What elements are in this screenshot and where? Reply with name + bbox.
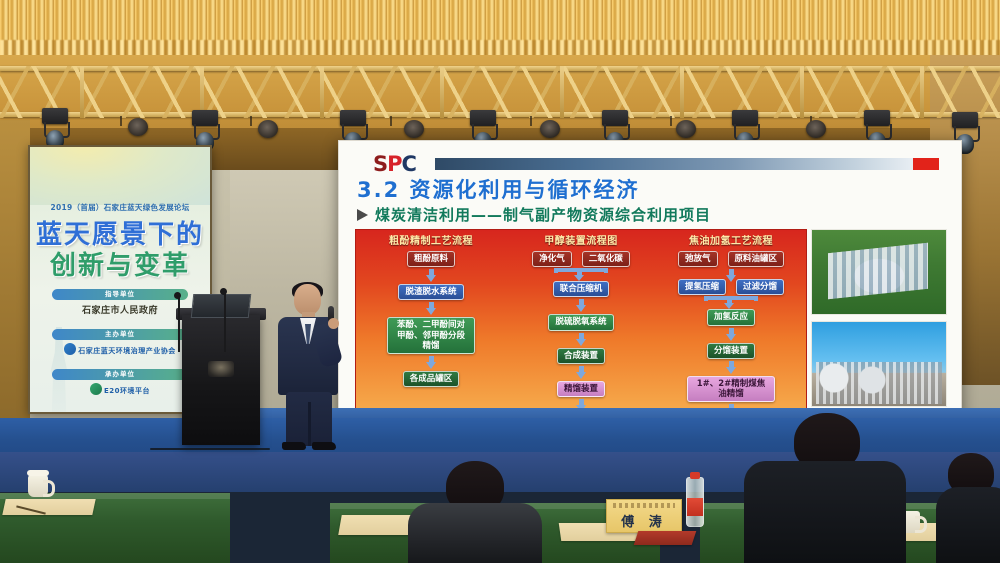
audience-person-right xyxy=(740,413,910,563)
banner-forum-line: 2019（首届）石家庄蓝天绿色发展论坛 xyxy=(30,202,210,213)
red-folder xyxy=(634,531,697,545)
floor-cable xyxy=(150,448,270,450)
merge-arrow-icon xyxy=(546,268,616,280)
podium-laptop xyxy=(191,294,252,318)
aerial-plant-rendering xyxy=(811,229,947,315)
audience-shoulders xyxy=(744,461,906,563)
audience-shoulders xyxy=(936,487,1000,563)
par-can-light xyxy=(128,118,148,136)
triangle-bullet-icon xyxy=(357,209,368,221)
tea-mug xyxy=(28,475,48,497)
logo-letter-c: C xyxy=(402,152,416,176)
association-logo-icon xyxy=(64,343,76,355)
flow-node: 精馏装置 xyxy=(557,381,605,397)
flow-node: 各成品罐区 xyxy=(403,371,460,387)
flow-pair-row: 净化气 二氧化碳 xyxy=(532,251,630,267)
org-name-text: E20环境平台 xyxy=(104,387,150,395)
logo-red-accent xyxy=(913,158,939,170)
podium-crest-logo xyxy=(208,361,234,377)
org-name: 石家庄蓝天环境治理产业协会 xyxy=(52,343,188,356)
flow-arrow-icon xyxy=(726,361,737,374)
par-can-light xyxy=(676,120,696,138)
lighting-truss xyxy=(0,60,1000,138)
wall-left-column xyxy=(0,120,30,420)
par-can-light xyxy=(540,120,560,138)
logo-letter-s: S xyxy=(373,152,387,176)
audience-person-left xyxy=(400,455,550,563)
name-card-header-line xyxy=(613,503,675,508)
column-title: 甲醇装置流程图 xyxy=(506,232,656,247)
flow-node: 脱渣脱水系统 xyxy=(398,284,463,300)
column-title: 粗酚精制工艺流程 xyxy=(356,232,506,247)
flow-arrow-icon xyxy=(426,302,437,315)
audience-person-far-right xyxy=(940,443,1000,563)
flow-node: 合成装置 xyxy=(557,348,605,364)
flow-pair-row: 弛放气 原料油罐区 xyxy=(678,251,784,267)
flow-node: 联合压缩机 xyxy=(553,281,610,297)
org-role-label: 承办单位 xyxy=(52,369,188,380)
flow-node: 苯酚、二甲酚间对甲酚、邻甲酚分段精馏 xyxy=(387,317,475,354)
microphone-stand xyxy=(224,292,226,352)
speaker-leg-split xyxy=(308,402,311,446)
org-role-label: 指导单位 xyxy=(52,289,188,300)
slide-logo-row: SPC xyxy=(373,153,939,175)
banner-org-host: 主办单位 石家庄蓝天环境治理产业协会 xyxy=(52,329,188,356)
audience-shoulders xyxy=(408,503,542,563)
merge-arrow-icon xyxy=(696,296,766,308)
flow-arrow-icon xyxy=(426,269,437,282)
flow-arrow-icon xyxy=(576,299,587,312)
name-card-name: 傅 涛 xyxy=(607,511,681,530)
banner-sky-graphic xyxy=(30,147,210,205)
slide-subtitle: 煤炭清洁利用——制气副产物资源综合利用项目 xyxy=(375,204,711,225)
speaker-person xyxy=(272,284,346,454)
org-name-text: 石家庄蓝天环境治理产业协会 xyxy=(78,347,176,355)
projection-screen: SPC 3.2 资源化利用与循环经济 煤炭清洁利用——制气副产物资源综合利用项目… xyxy=(338,140,962,442)
water-bottle xyxy=(686,477,704,527)
flow-arrow-icon xyxy=(726,269,737,277)
name-card: 傅 涛 xyxy=(606,499,682,533)
flow-node: 1#、2#精制煤焦油精馏 xyxy=(687,376,775,402)
diagram-column-tar-hydrogenation: 焦油加氢工艺流程 弛放气 原料油罐区 提氢压缩 过滤分馏 xyxy=(656,230,806,408)
flow-arrow-icon xyxy=(726,328,737,341)
slide-title: 3.2 资源化利用与循环经济 xyxy=(357,174,957,204)
flow-arrow-icon xyxy=(576,366,587,379)
slide-subtitle-row: 煤炭清洁利用——制气副产物资源综合利用项目 xyxy=(357,204,957,225)
flow-arrow-icon xyxy=(576,333,587,346)
flow-node: 二氧化碳 xyxy=(582,251,630,267)
banner-org-organizer: 承办单位 E20环境平台 xyxy=(52,369,188,396)
logo-letter-p: P xyxy=(387,152,401,176)
diagram-column-methanol: 甲醇装置流程图 净化气 二氧化碳 联合压缩机 脱硫脱氧系统 合成 xyxy=(506,230,656,408)
speaker-shoe xyxy=(312,442,336,450)
logo-gradient-bar xyxy=(435,158,913,170)
spc-logo: SPC xyxy=(373,153,416,175)
org-name: 石家庄市人民政府 xyxy=(52,303,188,316)
diagram-column-crude-phenol: 粗酚精制工艺流程 粗酚原料 脱渣脱水系统 苯酚、二甲酚间对甲酚、邻甲酚分段精馏 … xyxy=(356,230,506,408)
flow-node: 分馏装置 xyxy=(707,343,755,359)
microphone-head-icon xyxy=(174,292,181,299)
ceiling-texture xyxy=(0,0,1000,62)
podium xyxy=(182,315,260,445)
microphone-stand xyxy=(178,296,180,352)
e20-logo-icon xyxy=(90,383,102,395)
slide-photo-group xyxy=(811,229,945,407)
org-name: E20环境平台 xyxy=(52,383,188,396)
microphone-head-icon xyxy=(220,288,227,295)
flow-node: 脱硫脱氧系统 xyxy=(548,314,613,330)
flow-node: 弛放气 xyxy=(678,251,718,267)
par-can-light xyxy=(806,120,826,138)
column-title: 焦油加氢工艺流程 xyxy=(656,232,806,247)
par-can-light xyxy=(404,120,424,138)
flow-node: 原料油罐区 xyxy=(728,251,785,267)
flow-node: 粗酚原料 xyxy=(407,251,455,267)
flow-node: 提氢压缩 xyxy=(678,279,726,295)
speaker-shoe xyxy=(282,442,306,450)
banner-org-guidance: 指导单位 石家庄市人民政府 xyxy=(52,289,188,316)
speaker-hand xyxy=(328,318,339,329)
truss-web-bracing xyxy=(0,66,1000,118)
flow-arrow-icon xyxy=(426,356,437,369)
storage-tanks-photo xyxy=(811,321,947,407)
flow-node: 净化气 xyxy=(532,251,572,267)
flow-node: 过滤分馏 xyxy=(736,279,784,295)
scene-root: SPC 3.2 资源化利用与循环经济 煤炭清洁利用——制气副产物资源综合利用项目… xyxy=(0,0,1000,563)
flow-node: 加氢反应 xyxy=(707,309,755,325)
process-diagram-panel: 粗酚精制工艺流程 粗酚原料 脱渣脱水系统 苯酚、二甲酚间对甲酚、邻甲酚分段精馏 … xyxy=(355,229,807,409)
org-role-label: 主办单位 xyxy=(52,329,188,340)
par-can-light xyxy=(258,120,278,138)
speaker-head xyxy=(294,284,321,315)
banner-headline-2: 创新与变革 xyxy=(30,245,210,282)
